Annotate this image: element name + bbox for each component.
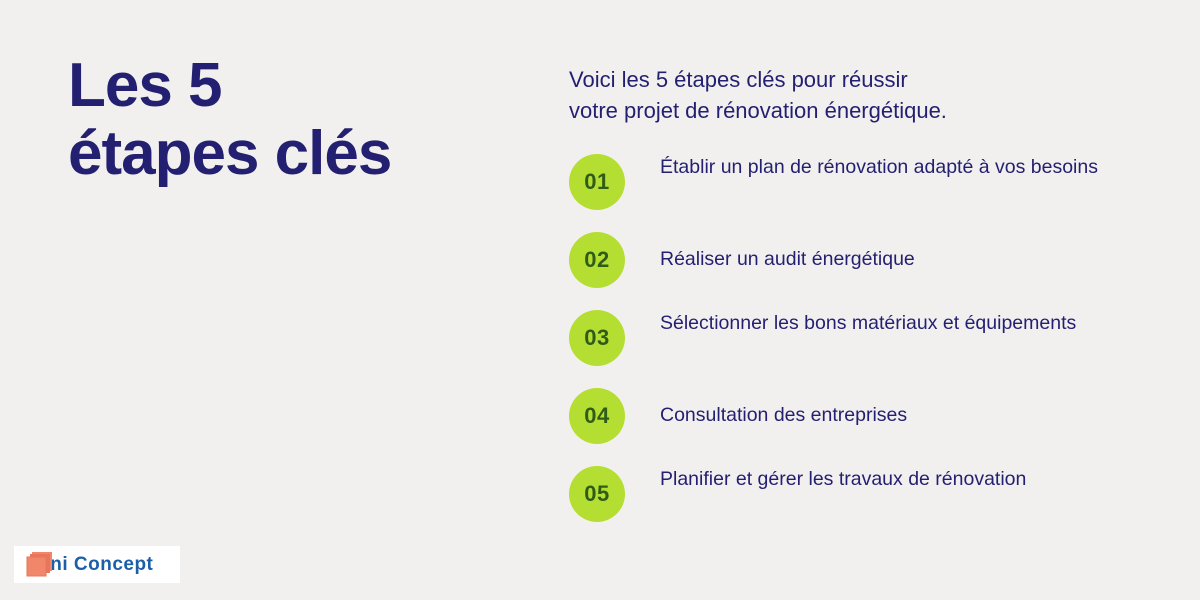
headline-block: Les 5 étapes clés — [68, 52, 528, 188]
brand-logo: Uni Concept — [14, 546, 180, 583]
content-column: Voici les 5 étapes clés pour réussir vot… — [569, 64, 1129, 542]
intro-paragraph: Voici les 5 étapes clés pour réussir vot… — [569, 64, 1129, 126]
step-number-badge: 04 — [569, 388, 625, 444]
step-number-badge: 05 — [569, 466, 625, 522]
step-number-badge: 01 — [569, 154, 625, 210]
slide-canvas: Les 5 étapes clés Voici les 5 étapes clé… — [0, 0, 1200, 600]
logo-wordmark: Uni Concept — [36, 554, 153, 576]
list-item: 03 Sélectionner les bons matériaux et éq… — [569, 308, 1129, 386]
step-number-badge: 03 — [569, 310, 625, 366]
logo-inner: Uni Concept — [26, 552, 153, 577]
step-label: Sélectionner les bons matériaux et équip… — [660, 308, 1076, 337]
step-label: Réaliser un audit énergétique — [660, 230, 915, 273]
steps-list: 01 Établir un plan de rénovation adapté … — [569, 152, 1129, 542]
page-title: Les 5 étapes clés — [68, 52, 528, 188]
step-label: Établir un plan de rénovation adapté à v… — [660, 152, 1098, 181]
list-item: 02 Réaliser un audit énergétique — [569, 230, 1129, 308]
list-item: 01 Établir un plan de rénovation adapté … — [569, 152, 1129, 230]
list-item: 05 Planifier et gérer les travaux de rén… — [569, 464, 1129, 542]
step-number-badge: 02 — [569, 232, 625, 288]
list-item: 04 Consultation des entreprises — [569, 386, 1129, 464]
step-label: Planifier et gérer les travaux de rénova… — [660, 464, 1026, 493]
step-label: Consultation des entreprises — [660, 386, 907, 429]
cube-icon — [26, 552, 53, 577]
